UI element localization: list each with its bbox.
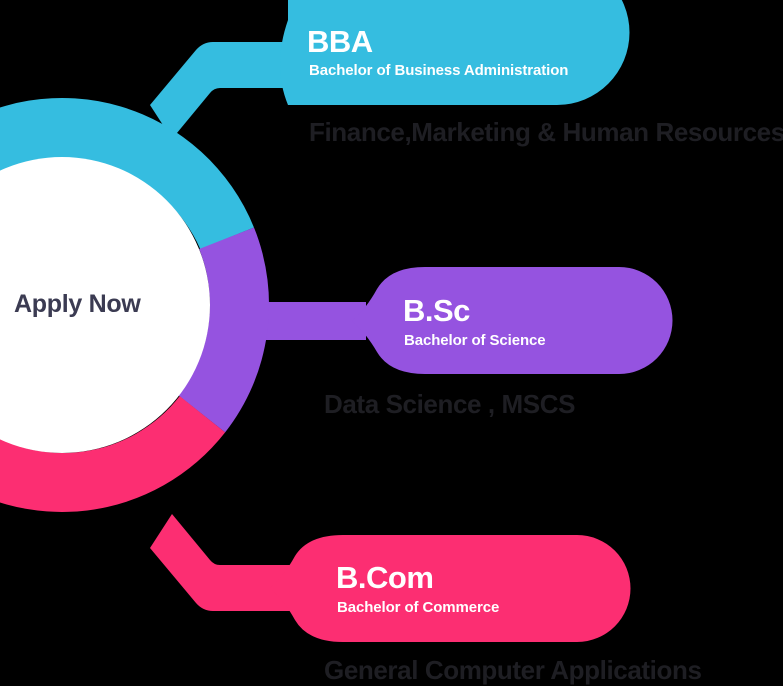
donut-ring bbox=[0, 98, 269, 512]
infographic-artwork bbox=[0, 0, 783, 686]
pill-bsc[interactable] bbox=[352, 267, 673, 374]
connector-bba bbox=[150, 42, 300, 139]
pill-bba[interactable] bbox=[280, 0, 630, 105]
pill-bcom[interactable] bbox=[270, 535, 631, 642]
infographic-canvas: Apply Now BBA Bachelor of Business Admin… bbox=[0, 0, 783, 686]
connector-bcom bbox=[150, 514, 292, 611]
